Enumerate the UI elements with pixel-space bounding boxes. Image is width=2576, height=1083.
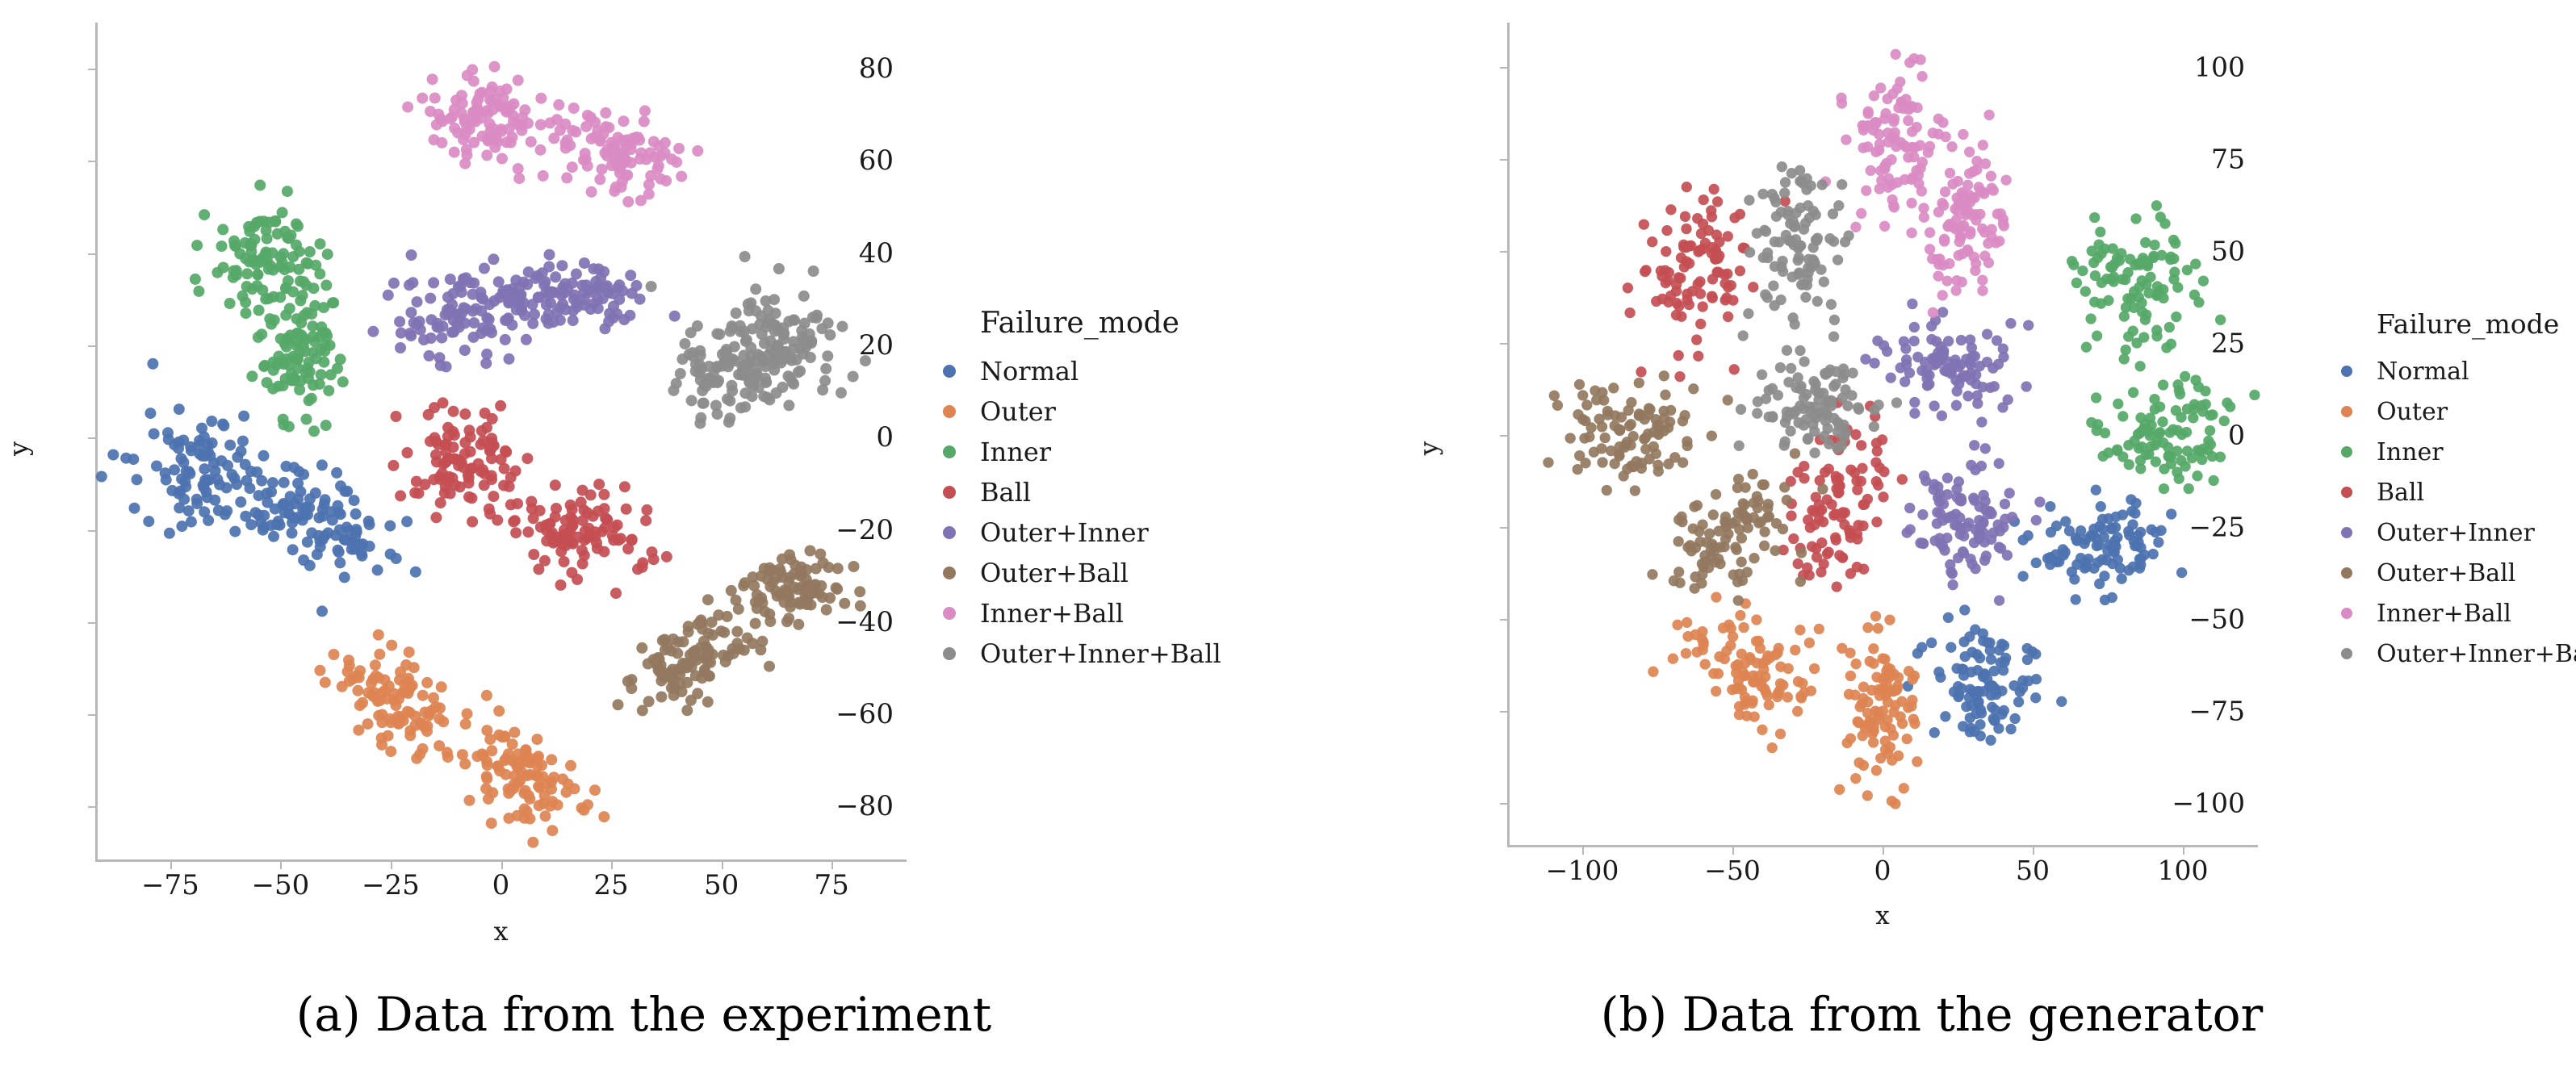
y-axis-label-b: y: [1417, 441, 1442, 456]
scatter-points-a: [95, 23, 907, 862]
y-tick-label: −60: [836, 700, 894, 728]
legend-label: Ball: [2377, 479, 2424, 507]
y-tick-label: 50: [2211, 237, 2245, 264]
legend-label: Outer: [2377, 398, 2448, 426]
y-tick-mark: [1500, 159, 1507, 161]
x-tick-mark: [280, 862, 282, 869]
y-tick-label: 25: [2211, 329, 2245, 356]
legend-title-a: Failure_mode: [980, 307, 1221, 340]
figure-container: 806040200−20−40−60−80 −75−50−250255075 x…: [0, 0, 2576, 1083]
x-axis-label-b: x: [1875, 904, 1889, 929]
axes-a: 806040200−20−40−60−80 −75−50−250255075: [95, 23, 907, 862]
x-tick-label: −25: [362, 872, 420, 899]
legend-swatch-icon: [943, 445, 956, 458]
y-tick-label: 40: [859, 240, 894, 267]
legend-label: Outer+Ball: [2377, 559, 2515, 587]
legend-swatch-icon: [943, 486, 956, 499]
legend-swatch-icon: [943, 405, 956, 418]
x-tick-label: 75: [815, 872, 849, 899]
x-tick-label: 0: [1874, 857, 1891, 884]
legend-swatch-icon: [2341, 446, 2352, 458]
x-tick-label: 25: [593, 872, 628, 899]
x-tick-mark: [501, 862, 503, 869]
legend-item-ball[interactable]: Ball: [943, 472, 1221, 512]
x-tick-label: 50: [704, 872, 739, 899]
legend-item-outer[interactable]: Outer: [2341, 391, 2576, 432]
y-tick-mark: [1500, 711, 1507, 713]
legend-swatch-icon: [943, 526, 956, 539]
x-tick-mark: [1883, 847, 1884, 855]
legend-item-outer-ball[interactable]: Outer+Ball: [943, 553, 1221, 593]
legend-item-outer-inner[interactable]: Outer+Inner: [943, 512, 1221, 553]
legend-label: Inner+Ball: [980, 598, 1124, 629]
y-tick-label: 100: [2194, 53, 2245, 80]
x-tick-label: −75: [141, 872, 199, 899]
y-tick-label: −75: [2189, 698, 2245, 725]
y-tick-label: 0: [876, 424, 894, 451]
x-tick-mark: [2033, 847, 2034, 855]
x-tick-mark: [831, 862, 833, 869]
y-tick-mark: [88, 622, 95, 624]
x-tick-label: −50: [1704, 857, 1761, 884]
panel-b: 1007550250−25−50−75−100 −100−50050100 x …: [1288, 0, 2576, 1083]
y-tick-mark: [88, 806, 95, 808]
y-tick-label: −25: [2189, 514, 2245, 541]
y-tick-mark: [88, 69, 95, 70]
legend-label: Outer+Inner: [980, 517, 1149, 548]
y-tick-mark: [1500, 343, 1507, 345]
y-tick-mark: [1500, 435, 1507, 437]
y-tick-label: 80: [859, 55, 894, 82]
y-tick-mark: [88, 530, 95, 532]
legend-label: Inner: [980, 437, 1051, 467]
x-tick-mark: [722, 862, 723, 869]
legend-items-a: NormalOuterInnerBallOuter+InnerOuter+Bal…: [943, 351, 1221, 674]
legend-label: Outer+Ball: [980, 558, 1129, 588]
legend-swatch-icon: [943, 567, 956, 579]
legend-item-normal[interactable]: Normal: [943, 351, 1221, 391]
legend-swatch-icon: [943, 647, 956, 660]
legend-swatch-icon: [2341, 567, 2352, 579]
legend-label: Ball: [980, 477, 1031, 508]
legend-item-outer-inner-ball[interactable]: Outer+Inner+Ball: [943, 633, 1221, 674]
panel-caption-b: (b) Data from the generator: [1288, 991, 2576, 1038]
panel-a: 806040200−20−40−60−80 −75−50−250255075 x…: [0, 0, 1288, 1083]
x-tick-label: 50: [2016, 857, 2050, 884]
legend-item-outer-inner-ball[interactable]: Outer+Inner+Ball: [2341, 633, 2576, 674]
x-tick-mark: [1732, 847, 1734, 855]
y-tick-label: −80: [836, 792, 894, 820]
legend-label: Outer: [980, 396, 1056, 427]
y-axis-label-a: y: [6, 441, 31, 456]
legend-swatch-icon: [2341, 406, 2352, 417]
y-tick-mark: [1500, 67, 1507, 69]
x-tick-label: 0: [492, 872, 510, 899]
y-tick-label: 75: [2211, 145, 2245, 172]
legend-label: Outer+Inner+Ball: [980, 638, 1221, 669]
legend-item-inner[interactable]: Inner: [2341, 432, 2576, 472]
x-tick-mark: [391, 862, 392, 869]
y-tick-label: 60: [859, 147, 894, 174]
legend-item-inner-ball[interactable]: Inner+Ball: [2341, 593, 2576, 633]
y-tick-label: −100: [2172, 790, 2245, 817]
legend-item-outer[interactable]: Outer: [943, 391, 1221, 432]
y-tick-label: 20: [859, 332, 894, 359]
y-tick-mark: [88, 161, 95, 162]
y-tick-label: −50: [2189, 606, 2245, 633]
y-tick-mark: [1500, 619, 1507, 621]
legend-title-b: Failure_mode: [2377, 308, 2576, 340]
x-tick-mark: [1582, 847, 1584, 855]
x-axis-label-a: x: [493, 918, 508, 944]
legend-label: Outer+Inner+Ball: [2377, 640, 2576, 668]
legend-swatch-icon: [2341, 366, 2352, 377]
legend-swatch-icon: [2341, 527, 2352, 538]
y-tick-mark: [1500, 251, 1507, 253]
axes-b: 1007550250−25−50−75−100 −100−50050100: [1507, 23, 2258, 847]
y-tick-label: −40: [836, 608, 894, 636]
y-tick-mark: [88, 253, 95, 255]
legend-label: Normal: [980, 356, 1079, 387]
legend-items-b: NormalOuterInnerBallOuter+InnerOuter+Bal…: [2341, 351, 2576, 674]
legend-a: Failure_mode NormalOuterInnerBallOuter+I…: [943, 307, 1221, 674]
x-tick-label: −100: [1546, 857, 1619, 884]
y-tick-label: 0: [2228, 422, 2245, 449]
legend-label: Inner: [2377, 438, 2444, 466]
legend-swatch-icon: [2341, 487, 2352, 498]
legend-item-inner-ball[interactable]: Inner+Ball: [943, 593, 1221, 633]
legend-label: Outer+Inner: [2377, 519, 2535, 547]
legend-swatch-icon: [2341, 608, 2352, 619]
y-tick-mark: [88, 437, 95, 439]
legend-swatch-icon: [2341, 648, 2352, 659]
legend-item-ball[interactable]: Ball: [2341, 472, 2576, 512]
y-tick-mark: [88, 345, 95, 347]
legend-swatch-icon: [943, 607, 956, 620]
legend-label: Inner+Ball: [2377, 600, 2511, 628]
x-tick-mark: [170, 862, 172, 869]
x-tick-mark: [611, 862, 613, 869]
legend-item-normal[interactable]: Normal: [2341, 351, 2576, 391]
x-tick-mark: [2183, 847, 2184, 855]
legend-label: Normal: [2377, 358, 2469, 386]
y-tick-mark: [1500, 527, 1507, 529]
y-tick-mark: [1500, 803, 1507, 805]
legend-item-outer-ball[interactable]: Outer+Ball: [2341, 553, 2576, 593]
scatter-points-b: [1507, 23, 2258, 847]
x-tick-label: 100: [2158, 857, 2209, 884]
legend-item-outer-inner[interactable]: Outer+Inner: [2341, 512, 2576, 553]
legend-swatch-icon: [943, 365, 956, 378]
legend-b: Failure_mode NormalOuterInnerBallOuter+I…: [2341, 308, 2576, 674]
x-tick-label: −50: [252, 872, 310, 899]
legend-item-inner[interactable]: Inner: [943, 432, 1221, 472]
panel-caption-a: (a) Data from the experiment: [0, 991, 1288, 1038]
y-tick-label: −20: [836, 516, 894, 544]
y-tick-mark: [88, 714, 95, 716]
